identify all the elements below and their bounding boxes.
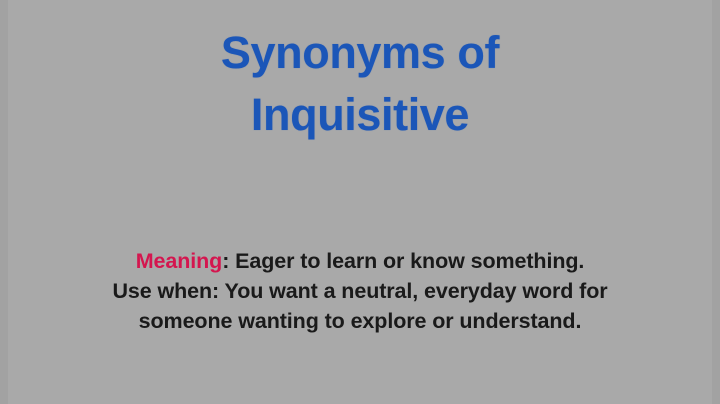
- slide-canvas: Synonyms of Inquisitive Meaning: Eager t…: [0, 0, 720, 404]
- body-text-block: Meaning: Eager to learn or know somethin…: [0, 246, 720, 336]
- body-line-use-when: Use when: You want a neutral, everyday w…: [0, 276, 720, 306]
- meaning-label: Meaning: [136, 249, 223, 273]
- meaning-definition: : Eager to learn or know something.: [222, 249, 584, 273]
- title-line-2: Inquisitive: [0, 84, 720, 146]
- title-block: Synonyms of Inquisitive: [0, 22, 720, 146]
- body-line-use-when-continued: someone wanting to explore or understand…: [0, 306, 720, 336]
- title-line-1: Synonyms of: [0, 22, 720, 84]
- body-line-meaning: Meaning: Eager to learn or know somethin…: [0, 246, 720, 276]
